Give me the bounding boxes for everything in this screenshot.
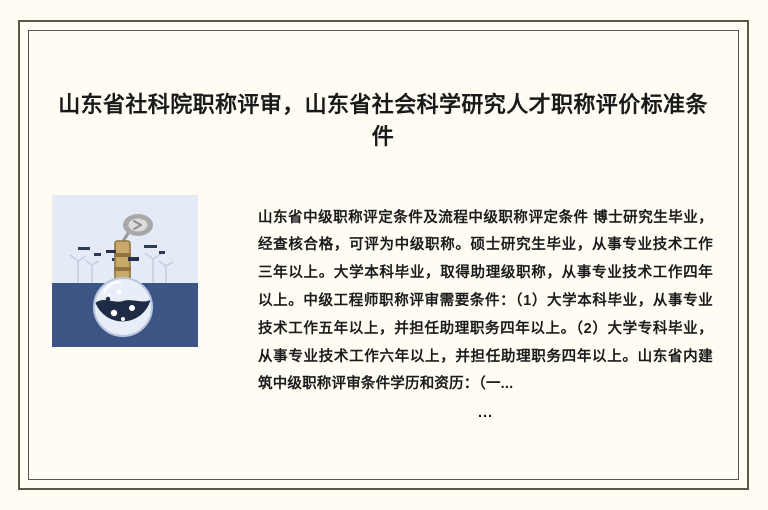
message-in-a-bottle-illustration: [52, 195, 198, 347]
article-block: 山东省中级职称评定条件及流程中级职称评定条件 博士研究生毕业，经查核合格，可评为…: [28, 180, 739, 480]
article-excerpt: 山东省中级职称评定条件及流程中级职称评定条件 博士研究生毕业，经查核合格，可评为…: [258, 205, 713, 400]
page-root: 山东省社科院职称评审，山东省社会科学研究人才职称评价标准条件: [0, 0, 768, 510]
content-area: 山东省社科院职称评审，山东省社会科学研究人才职称评价标准条件: [28, 30, 739, 480]
article-thumbnail[interactable]: [52, 195, 198, 347]
page-title: 山东省社科院职称评审，山东省社会科学研究人才职称评价标准条件: [54, 89, 712, 153]
article-excerpt-ellipsis: ...: [258, 405, 713, 421]
